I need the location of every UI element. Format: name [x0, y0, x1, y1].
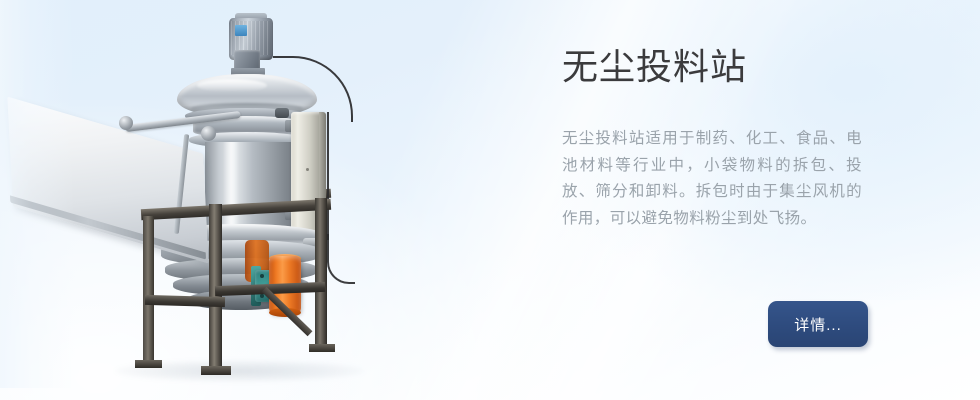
mount-bolt-1: [260, 274, 264, 278]
product-banner: 无尘投料站 无尘投料站适用于制药、化工、食品、电池材料等行业中，小袋物料的拆包、…: [0, 0, 980, 400]
lid-hinge-joint-left: [119, 116, 133, 130]
motor-nameplate: [235, 25, 247, 36]
power-cable-mid: [327, 112, 339, 240]
lid-hinge-joint-right: [201, 126, 216, 141]
page-title: 无尘投料站: [562, 44, 892, 90]
mount-bolt-2: [260, 294, 264, 298]
cable-gland: [275, 108, 289, 118]
control-box-screw: [306, 168, 309, 171]
details-button[interactable]: 详情...: [768, 301, 868, 347]
power-cable-lower: [327, 234, 355, 284]
banner-text-panel: 无尘投料站 无尘投料站适用于制药、化工、食品、电池材料等行业中，小袋物料的拆包、…: [562, 44, 892, 232]
product-image: [105, 8, 375, 373]
dome-highlight: [197, 79, 267, 92]
frame-rail-mid-left: [145, 295, 225, 307]
frame-foot-right: [309, 344, 335, 352]
frame-foot-center: [201, 366, 231, 375]
frame-post-right: [315, 198, 327, 350]
product-description: 无尘投料站适用于制药、化工、食品、电池材料等行业中，小袋物料的拆包、投放、筛分和…: [562, 126, 862, 232]
frame-post-left: [143, 216, 154, 366]
frame-foot-left: [135, 360, 162, 368]
